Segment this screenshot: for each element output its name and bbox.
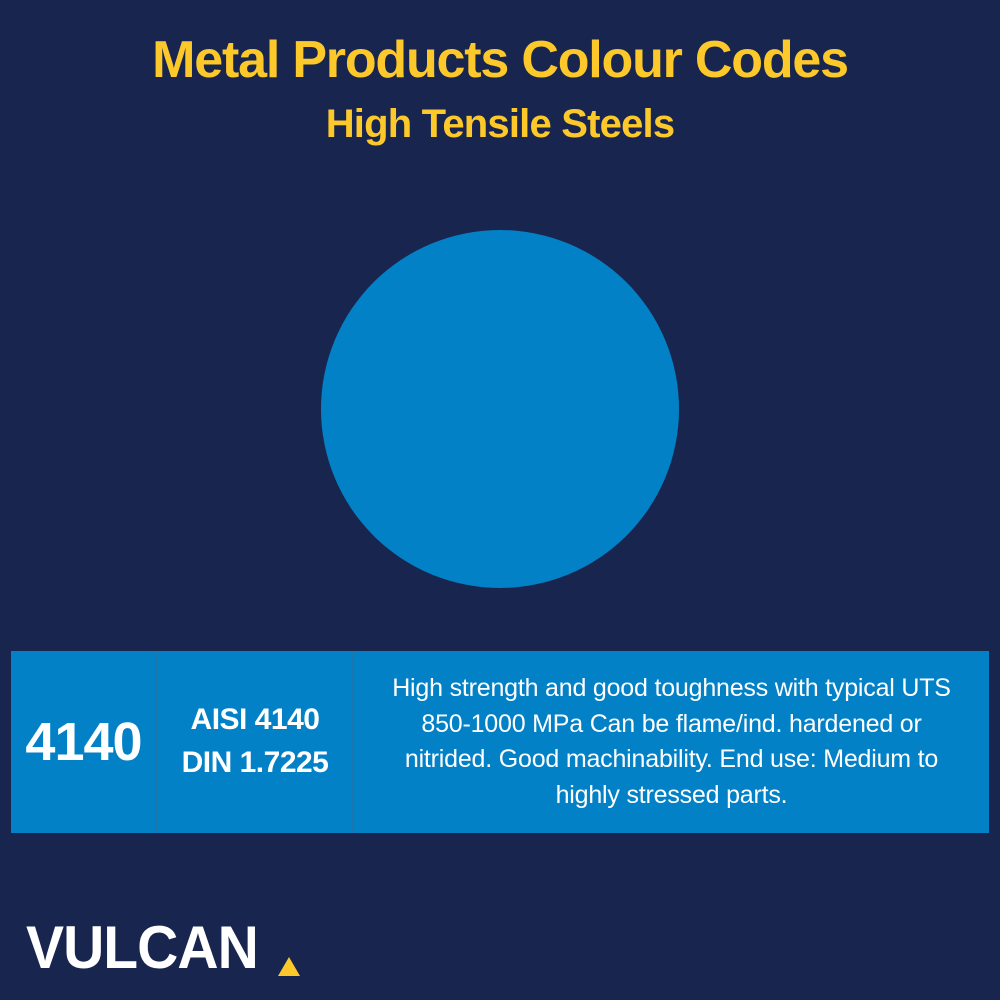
brand-logo: VULCAN [26,918,300,978]
triangle-icon [278,957,300,976]
page-title: Metal Products Colour Codes [0,33,1000,88]
page-subtitle: High Tensile Steels [0,88,1000,146]
table-cell-description: High strength and good toughness with ty… [354,651,989,833]
poster-canvas: Metal Products Colour Codes High Tensile… [0,0,1000,1000]
colour-swatch-area [0,230,1000,592]
grade-value: 4140 [25,715,141,769]
table-cell-grade: 4140 [11,651,158,833]
spec-table: 4140 AISI 4140 DIN 1.7225 High strength … [11,651,989,833]
table-cell-standards: AISI 4140 DIN 1.7225 [158,651,354,833]
poster-header: Metal Products Colour Codes High Tensile… [0,0,1000,146]
standard-aisi: AISI 4140 [191,699,320,742]
logo-wordmark: VULCAN [26,918,258,978]
standard-din: DIN 1.7225 [182,742,329,785]
colour-code-circle-icon [321,230,679,588]
description-text: High strength and good toughness with ty… [376,671,967,813]
